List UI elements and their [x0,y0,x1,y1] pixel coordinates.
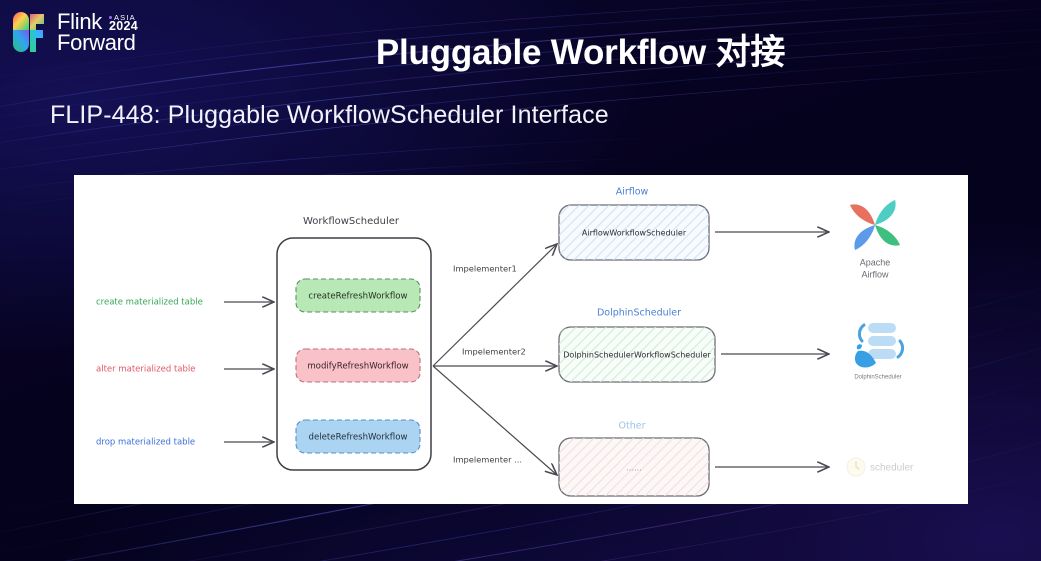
impl-group-title-airflow: Airflow [616,187,649,198]
impl-box-airflow[interactable]: AirflowWorkflowScheduler [559,205,709,260]
impl-box-label-dolphin: DolphinSchedulerWorkflowScheduler [563,351,711,360]
generic-scheduler-logo: scheduler [847,458,914,476]
scheduler-method-modify[interactable]: modifyRefreshWorkflow [296,349,420,382]
input-label-create: create materialized table [96,298,203,308]
other-caption: scheduler [870,463,914,474]
impl-box-label-other: ...... [626,464,641,473]
airflow-caption-line1: Apache [860,257,891,267]
input-labels: create materialized table alter material… [96,298,203,448]
scheduler-method-create[interactable]: createRefreshWorkflow [296,279,420,312]
implementer-labels: Impelementer1 Impelementer2 Impelementer… [453,264,526,465]
input-label-alter: alter materialized table [96,365,196,375]
diagram-panel: create materialized table alter material… [74,175,968,504]
impl-group-title-dolphin: DolphinScheduler [597,308,681,319]
scheduler-title: WorkflowScheduler [303,216,400,227]
impl-box-label-airflow: AirflowWorkflowScheduler [582,229,687,238]
architecture-diagram: create materialized table alter material… [74,175,968,504]
impl-box-dolphin[interactable]: DolphinSchedulerWorkflowScheduler [559,327,715,382]
impl-group-title-other: Other [619,421,646,432]
impl-box-other[interactable]: ...... [559,438,709,496]
airflow-caption-line2: Airflow [861,269,889,279]
input-label-drop: drop materialized table [96,438,195,448]
implementer-label-3: Impelementer ... [453,455,522,465]
dolphin-caption: DolphinScheduler [854,375,901,381]
implementer-arrows [433,244,557,475]
apache-airflow-logo: Apache Airflow [850,200,900,279]
method-label-create: createRefreshWorkflow [308,292,407,302]
page-subtitle: FLIP-448: Pluggable WorkflowScheduler In… [50,101,609,130]
method-label-delete: deleteRefreshWorkflow [309,433,408,443]
dolphinscheduler-logo: DolphinScheduler [854,323,902,381]
method-label-modify: modifyRefreshWorkflow [307,362,408,372]
input-arrows [224,302,274,442]
implementer-label-2: Impelementer2 [462,347,526,357]
slide-root: Flink ASIA 2024 Forward Pluggable Workfl… [0,0,1041,561]
implementer-label-1: Impelementer1 [453,264,517,274]
page-title: Pluggable Workflow 对接 [0,24,1041,75]
scheduler-method-delete[interactable]: deleteRefreshWorkflow [296,420,420,453]
